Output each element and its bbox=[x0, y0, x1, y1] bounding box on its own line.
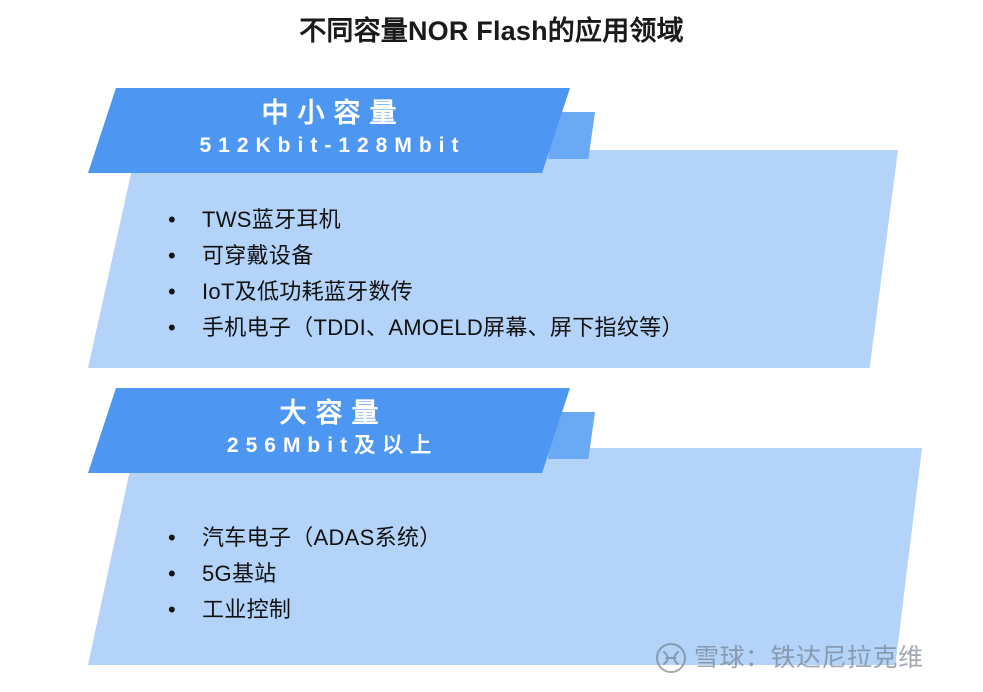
list-item: • TWS蓝牙耳机 bbox=[168, 204, 684, 240]
card-header-banner: 中小容量 512Kbit-128Mbit bbox=[88, 88, 570, 173]
bullet-dot-icon: • bbox=[168, 240, 202, 272]
card-header-banner: 大容量 256Mbit及以上 bbox=[88, 388, 570, 473]
bullet-dot-icon: • bbox=[168, 594, 202, 626]
list-item-label: 工业控制 bbox=[202, 594, 291, 626]
list-item-label: IoT及低功耗蓝牙数传 bbox=[202, 276, 413, 308]
list-item-label: 5G基站 bbox=[202, 558, 277, 590]
application-list: • 汽车电子（ADAS系统） • 5G基站 • 工业控制 bbox=[168, 522, 442, 630]
list-item-label: 手机电子（TDDI、AMOELD屏幕、屏下指纹等） bbox=[202, 312, 684, 344]
card-header-title: 大容量 bbox=[88, 397, 570, 430]
list-item: • 工业控制 bbox=[168, 594, 442, 630]
list-item-label: 汽车电子（ADAS系统） bbox=[202, 522, 442, 554]
bullet-dot-icon: • bbox=[168, 312, 202, 344]
bullet-dot-icon: • bbox=[168, 204, 202, 236]
bullet-dot-icon: • bbox=[168, 276, 202, 308]
bullet-dot-icon: • bbox=[168, 558, 202, 590]
card-header-subtitle: 512Kbit-128Mbit bbox=[88, 132, 570, 160]
page-title: 不同容量NOR Flash的应用领域 bbox=[0, 12, 983, 50]
list-item: • 5G基站 bbox=[168, 558, 442, 594]
list-item-label: TWS蓝牙耳机 bbox=[202, 204, 341, 236]
list-item: • 汽车电子（ADAS系统） bbox=[168, 522, 442, 558]
list-item: • 手机电子（TDDI、AMOELD屏幕、屏下指纹等） bbox=[168, 312, 684, 348]
list-item: • 可穿戴设备 bbox=[168, 240, 684, 276]
list-item: • IoT及低功耗蓝牙数传 bbox=[168, 276, 684, 312]
application-list: • TWS蓝牙耳机 • 可穿戴设备 • IoT及低功耗蓝牙数传 • 手机电子（T… bbox=[168, 204, 684, 348]
card-header-subtitle: 256Mbit及以上 bbox=[88, 432, 570, 460]
bullet-dot-icon: • bbox=[168, 522, 202, 554]
card-header-title: 中小容量 bbox=[88, 97, 570, 130]
list-item-label: 可穿戴设备 bbox=[202, 240, 314, 272]
